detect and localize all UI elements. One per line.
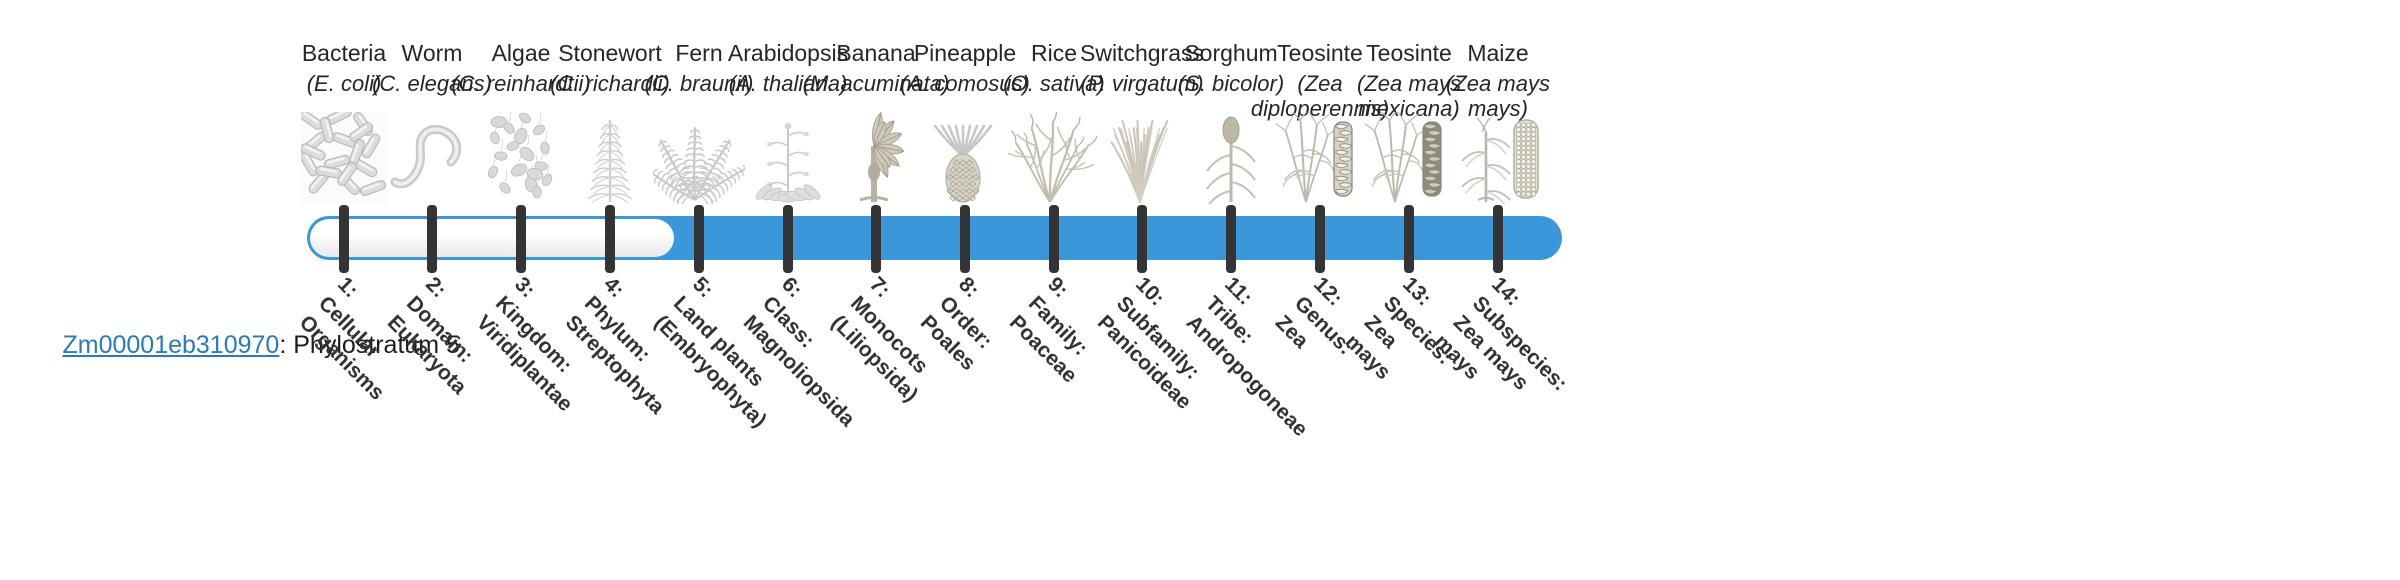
phylostratum-tick — [871, 205, 881, 273]
phylostratum-tick — [427, 205, 437, 273]
phylostratum-bar-unfilled — [310, 219, 674, 257]
phylostratum-tick — [783, 205, 793, 273]
phylostratum-tick — [339, 205, 349, 273]
phylostratum-tick — [605, 205, 615, 273]
phylostratum-tick — [960, 205, 970, 273]
phylostratum-tick — [1137, 205, 1147, 273]
phylostratum-tick — [516, 205, 526, 273]
species-common-name: Maize — [1423, 40, 1573, 66]
phylostratum-tick — [1315, 205, 1325, 273]
phylostratum-tick — [1226, 205, 1236, 273]
phylostratum-tick — [1049, 205, 1059, 273]
phylostratum-tick — [1493, 205, 1503, 273]
phylostratum-tick — [694, 205, 704, 273]
phylostratum-bar[interactable] — [307, 216, 1562, 260]
gene-label-separator: : — [279, 331, 293, 359]
phylostratigraphy-diagram: Zm00001eb310970: Phylostratum 5 Bacteria… — [0, 0, 2400, 580]
phylostratum-tick — [1404, 205, 1414, 273]
gene-id-link[interactable]: Zm00001eb310970 — [62, 331, 279, 359]
maize-plant-cob-icon — [1423, 112, 1573, 204]
